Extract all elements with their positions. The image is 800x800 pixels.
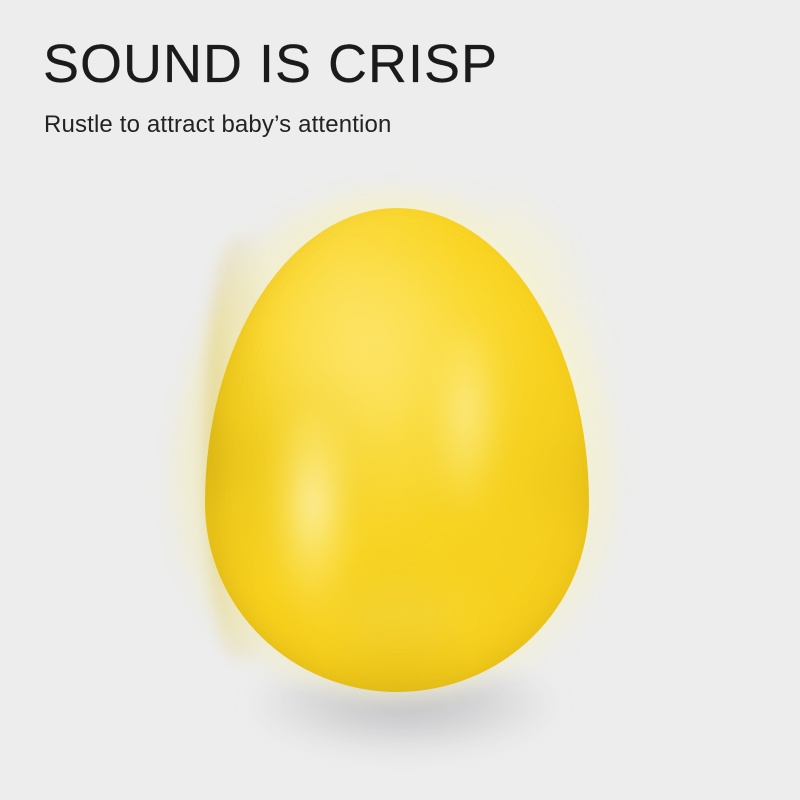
page-title: SOUND IS CRISP — [43, 34, 743, 94]
page-subtitle: Rustle to attract baby’s attention — [44, 110, 743, 140]
promo-scene: SOUND IS CRISP Rustle to attract baby’s … — [0, 0, 800, 800]
egg-bounce-highlight — [301, 574, 501, 658]
egg-left-edge-shading — [205, 238, 265, 658]
marketing-copy: SOUND IS CRISP Rustle to attract baby’s … — [43, 34, 743, 140]
egg-secondary-highlight — [431, 326, 501, 522]
